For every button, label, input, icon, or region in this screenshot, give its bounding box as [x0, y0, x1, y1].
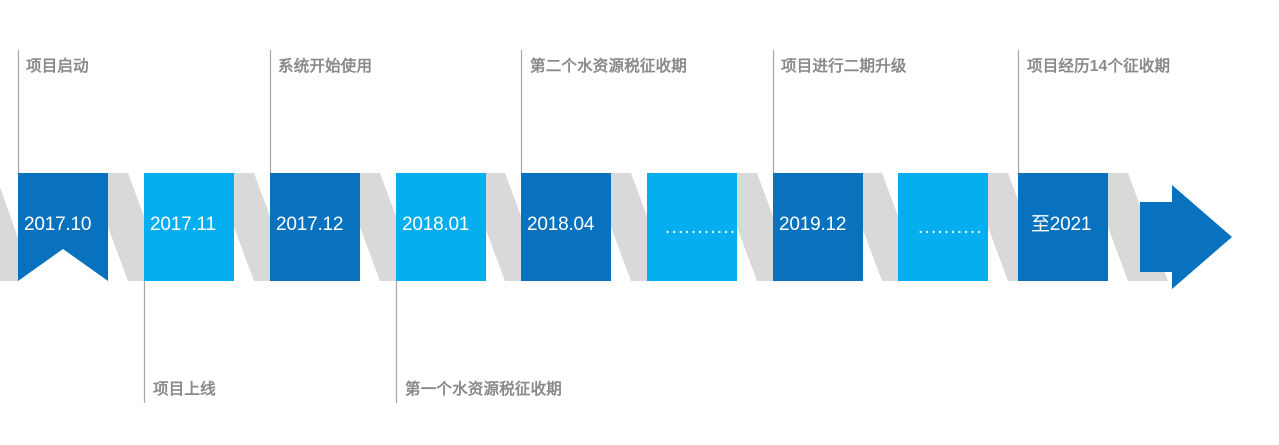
- milestone-label-top-second-tax-period: 第二个水资源税征收期: [530, 59, 687, 75]
- milestone-label-top-phase-two-upgrade: 项目进行二期升级: [781, 59, 907, 75]
- milestone-label-bottom-first-tax-period: 第一个水资源税征收期: [405, 382, 562, 398]
- step-box-label-2019-12: 2019.12: [779, 215, 846, 234]
- step-box-label-2018-01: 2018.01: [402, 215, 469, 234]
- timeline-diagram: 项目启动 系统开始使用 第二个水资源税征收期 项目进行二期升级 项目经历14个征…: [0, 0, 1279, 445]
- step-box-label-until-2021: 至2021: [1031, 215, 1091, 234]
- step-box-label-2017-11: 2017.11: [150, 215, 216, 234]
- step-box-label-2017-12: 2017.12: [276, 215, 343, 234]
- step-box-label-2017-10: 2017.10: [24, 215, 91, 234]
- step-box-label-ellipsis-1: ...........: [665, 218, 736, 237]
- step-box-label-2018-04: 2018.04: [527, 215, 594, 234]
- milestone-label-bottom-project-launch: 项目上线: [153, 382, 216, 398]
- milestone-label-top-project-start: 项目启动: [26, 59, 89, 75]
- step-box-label-ellipsis-2: ..........: [918, 218, 983, 237]
- gray-band-segment: [0, 187, 18, 281]
- milestone-label-top-fourteen-periods: 项目经历14个征收期: [1027, 59, 1170, 75]
- milestone-label-top-system-in-use: 系统开始使用: [278, 59, 372, 75]
